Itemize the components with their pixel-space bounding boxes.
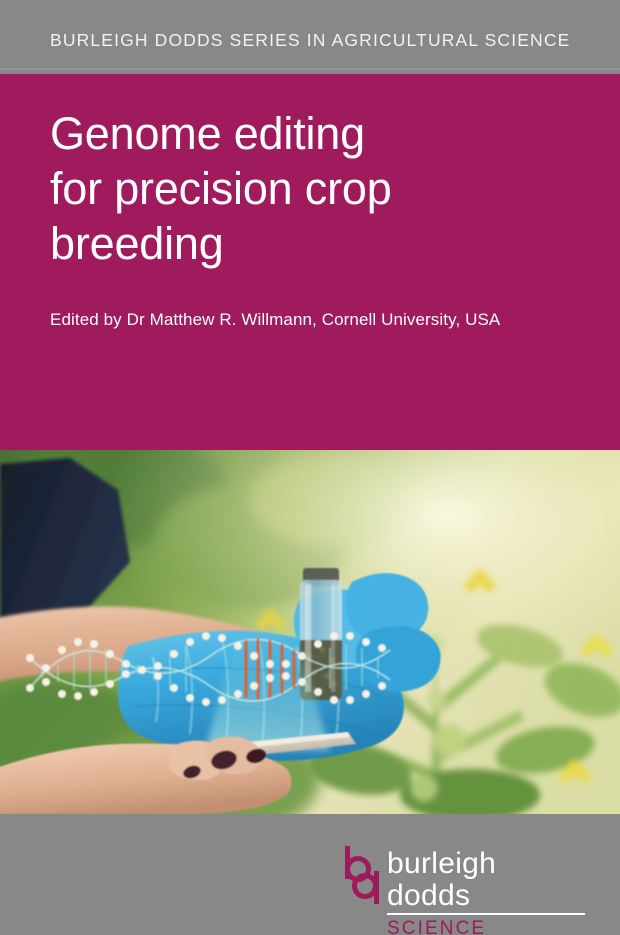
banner-divider-rule (0, 68, 620, 70)
title-line-2: for precision crop (50, 161, 550, 216)
title-line-3: breeding (50, 216, 550, 271)
cover-photograph (0, 450, 620, 814)
cover-photo-illustration (0, 450, 620, 814)
bd-monogram-icon (343, 846, 383, 904)
publisher-logo: burleigh dodds SCIENCE PUBLISHING (343, 846, 588, 908)
publisher-tagline: SCIENCE PUBLISHING (387, 917, 587, 935)
wordmark-underline (387, 913, 585, 915)
series-banner: BURLEIGH DODDS SERIES IN AGRICULTURAL SC… (0, 0, 620, 74)
page-title: Genome editing for precision crop breedi… (50, 106, 550, 271)
publisher-wordmark: burleigh dodds SCIENCE PUBLISHING (387, 848, 587, 935)
series-banner-title: BURLEIGH DODDS SERIES IN AGRICULTURAL SC… (50, 30, 570, 51)
cover-footer: burleigh dodds SCIENCE PUBLISHING (0, 814, 620, 935)
title-line-1: Genome editing (50, 106, 550, 161)
book-cover: BURLEIGH DODDS SERIES IN AGRICULTURAL SC… (0, 0, 620, 935)
title-block: Genome editing for precision crop breedi… (0, 74, 620, 450)
publisher-name: burleigh dodds (387, 848, 587, 912)
editor-credit: Edited by Dr Matthew R. Willmann, Cornel… (50, 310, 500, 330)
